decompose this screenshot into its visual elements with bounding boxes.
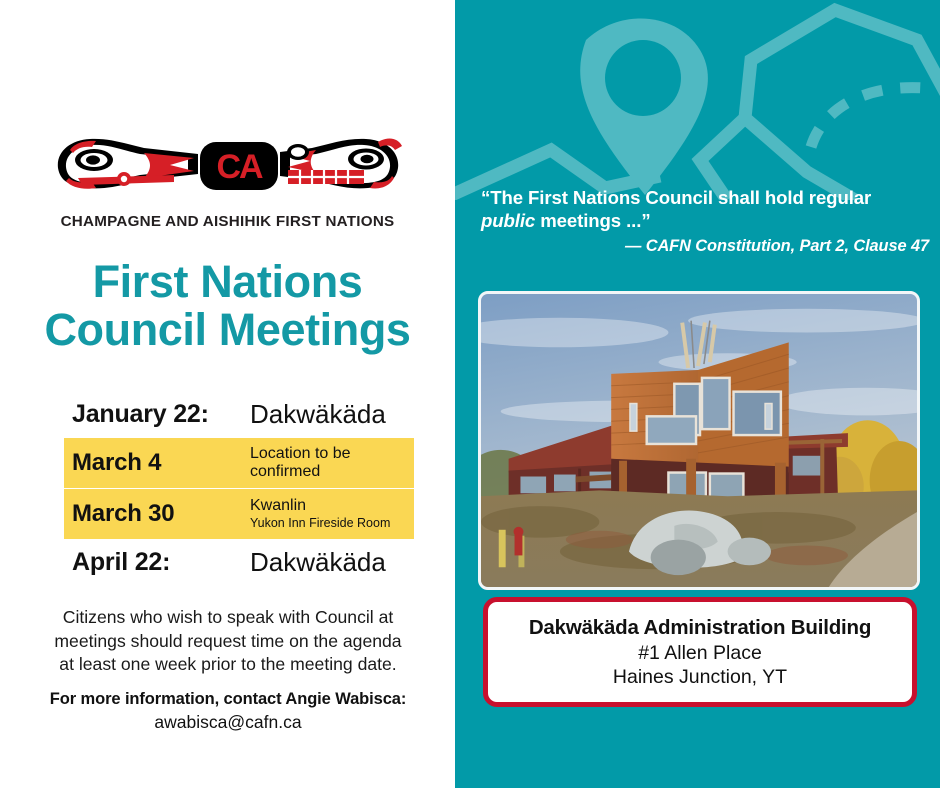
table-row: March 30 Kwanlin Yukon Inn Fireside Room xyxy=(64,489,414,539)
meeting-date: April 22: xyxy=(72,548,250,577)
contact-block: For more information, contact Angie Wabi… xyxy=(40,690,416,733)
organization-name: CHAMPAGNE AND AISHIHIK FIRST NATIONS xyxy=(0,213,455,230)
quote-text: “The First Nations Council shall hold re… xyxy=(481,186,929,232)
map-pin-icon xyxy=(580,18,708,195)
svg-text:CA: CA xyxy=(216,148,263,186)
address-street: #1 Allen Place xyxy=(638,642,762,665)
building-photo xyxy=(478,291,920,590)
address-card: Dakwäkäda Administration Building #1 All… xyxy=(483,597,917,707)
poster-root: CA xyxy=(0,0,940,788)
quote-part-1: “The First Nations Council shall hold re… xyxy=(481,187,871,208)
meeting-location-main: Kwanlin xyxy=(250,497,306,514)
meeting-location: Dakwäkäda xyxy=(250,401,406,428)
agenda-note: Citizens who wish to speak with Council … xyxy=(46,606,410,677)
meeting-date: March 30 xyxy=(72,500,250,528)
headline-line-1: First Nations xyxy=(0,258,455,306)
headline-line-2: Council Meetings xyxy=(0,306,455,354)
meeting-location: Location to be confirmed xyxy=(250,445,406,481)
contact-email[interactable]: awabisca@cafn.ca xyxy=(40,712,416,733)
constitution-quote: “The First Nations Council shall hold re… xyxy=(481,186,929,256)
meeting-location-sub: Yukon Inn Fireside Room xyxy=(250,516,406,530)
table-row: April 22: Dakwäkäda xyxy=(64,540,414,585)
left-panel: CA xyxy=(0,0,455,788)
table-row: March 4 Location to be confirmed xyxy=(64,438,414,488)
cafn-formline-logo: CA xyxy=(48,128,408,204)
meeting-date: January 22: xyxy=(72,400,250,429)
meeting-date: March 4 xyxy=(72,449,250,477)
quote-emphasis: public xyxy=(481,210,535,231)
logo-block: CA xyxy=(0,128,455,230)
contact-label: For more information, contact Angie Wabi… xyxy=(40,690,416,709)
quote-attribution: — CAFN Constitution, Part 2, Clause 47 xyxy=(481,237,929,256)
table-row: January 22: Dakwäkäda xyxy=(64,392,414,437)
meeting-location: Kwanlin Yukon Inn Fireside Room xyxy=(250,497,406,530)
meeting-schedule-table: January 22: Dakwäkäda March 4 Location t… xyxy=(64,392,414,585)
address-building-name: Dakwäkäda Administration Building xyxy=(529,616,871,640)
address-city: Haines Junction, YT xyxy=(613,666,787,689)
meeting-location: Dakwäkäda xyxy=(250,549,406,576)
page-title: First Nations Council Meetings xyxy=(0,258,455,353)
quote-part-2: meetings ...” xyxy=(535,210,650,231)
map-background-pattern xyxy=(455,0,940,200)
